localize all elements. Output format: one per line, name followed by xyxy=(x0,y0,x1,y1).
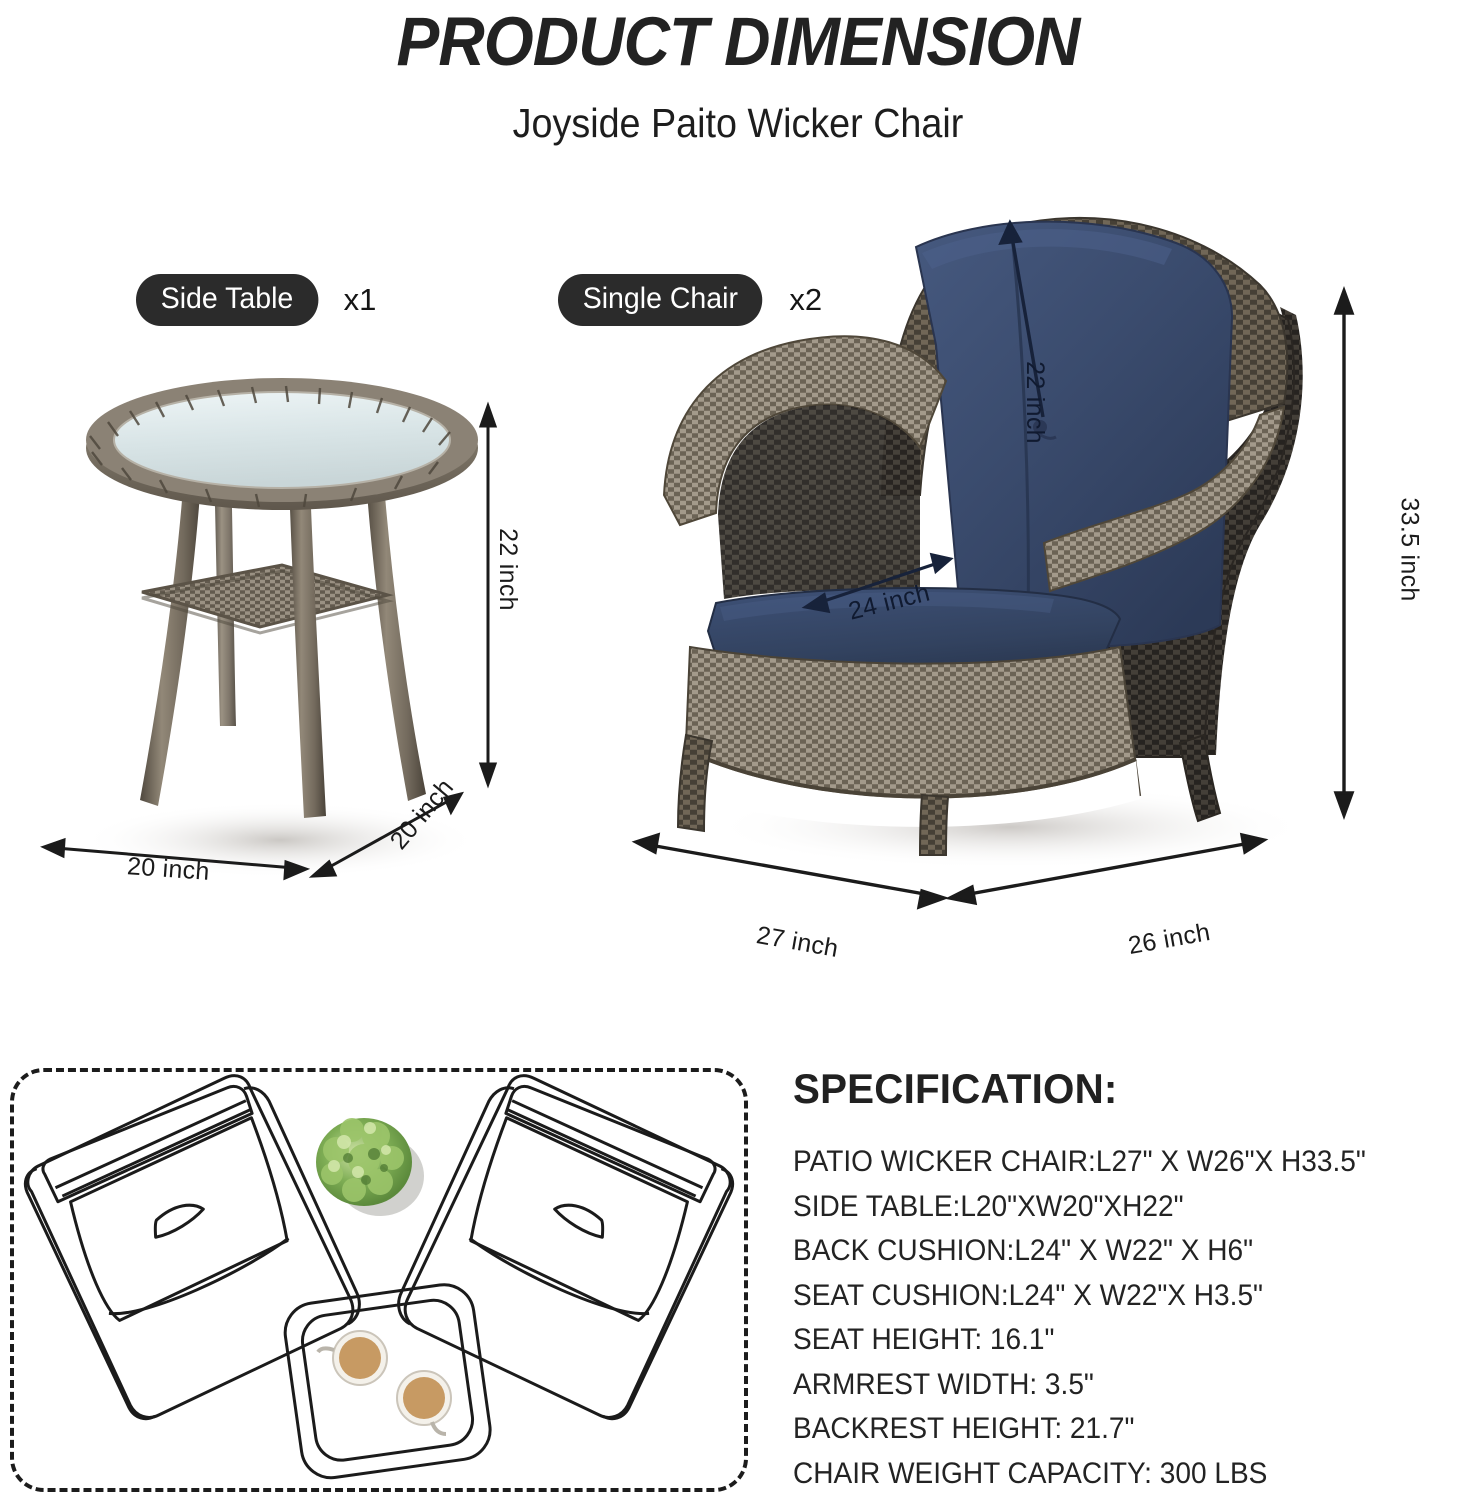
page-title: PRODUCT DIMENSION xyxy=(52,2,1425,81)
layout-coffee-cup xyxy=(318,1331,387,1385)
layout-diagram xyxy=(14,1072,744,1488)
layout-side-table xyxy=(281,1281,494,1482)
product-dimension-infographic: PRODUCT DIMENSION Joyside Paito Wicker C… xyxy=(0,0,1476,1500)
layout-coffee-cup xyxy=(397,1371,451,1434)
side-table-width-label: 20 inch xyxy=(126,852,211,887)
page-subtitle: Joyside Paito Wicker Chair xyxy=(59,100,1417,147)
spec-line: SEAT CUSHION:L24" X W22"X H3.5" xyxy=(793,1274,1429,1319)
chair-depth-label: 26 inch xyxy=(1126,918,1212,961)
spec-line: CHAIR WEIGHT CAPACITY: 300 LBS xyxy=(793,1452,1429,1497)
chair-back-cushion-label: 22 inch xyxy=(1020,361,1049,444)
chair-height-label: 33.5 inch xyxy=(1395,497,1424,601)
specification-list: PATIO WICKER CHAIR:L27" X W26"X H33.5" S… xyxy=(793,1140,1473,1496)
badge-side-table: Side Table x1 xyxy=(136,274,376,326)
spec-line: SEAT HEIGHT: 16.1" xyxy=(793,1318,1429,1363)
spec-line: SIDE TABLE:L20"XW20"XH22" xyxy=(793,1185,1429,1230)
specification-heading: SPECIFICATION: xyxy=(793,1065,1118,1113)
layout-chair-left xyxy=(12,1059,374,1432)
side-table-height-label: 22 inch xyxy=(493,528,522,611)
spec-line: BACKREST HEIGHT: 21.7" xyxy=(793,1407,1429,1452)
layout-diagram-panel xyxy=(10,1068,748,1492)
spec-line: PATIO WICKER CHAIR:L27" X W26"X H33.5" xyxy=(793,1140,1429,1185)
badge-count: x1 xyxy=(344,282,377,318)
chair-width-label: 27 inch xyxy=(754,921,840,964)
side-table-illustration xyxy=(30,370,550,910)
badge-label: Side Table xyxy=(136,274,318,326)
spec-line: BACK CUSHION:L24" X W22" X H6" xyxy=(793,1229,1429,1274)
single-chair-illustration xyxy=(620,195,1380,895)
layout-plant xyxy=(316,1118,424,1216)
spec-line: ARMREST WIDTH: 3.5" xyxy=(793,1363,1429,1408)
